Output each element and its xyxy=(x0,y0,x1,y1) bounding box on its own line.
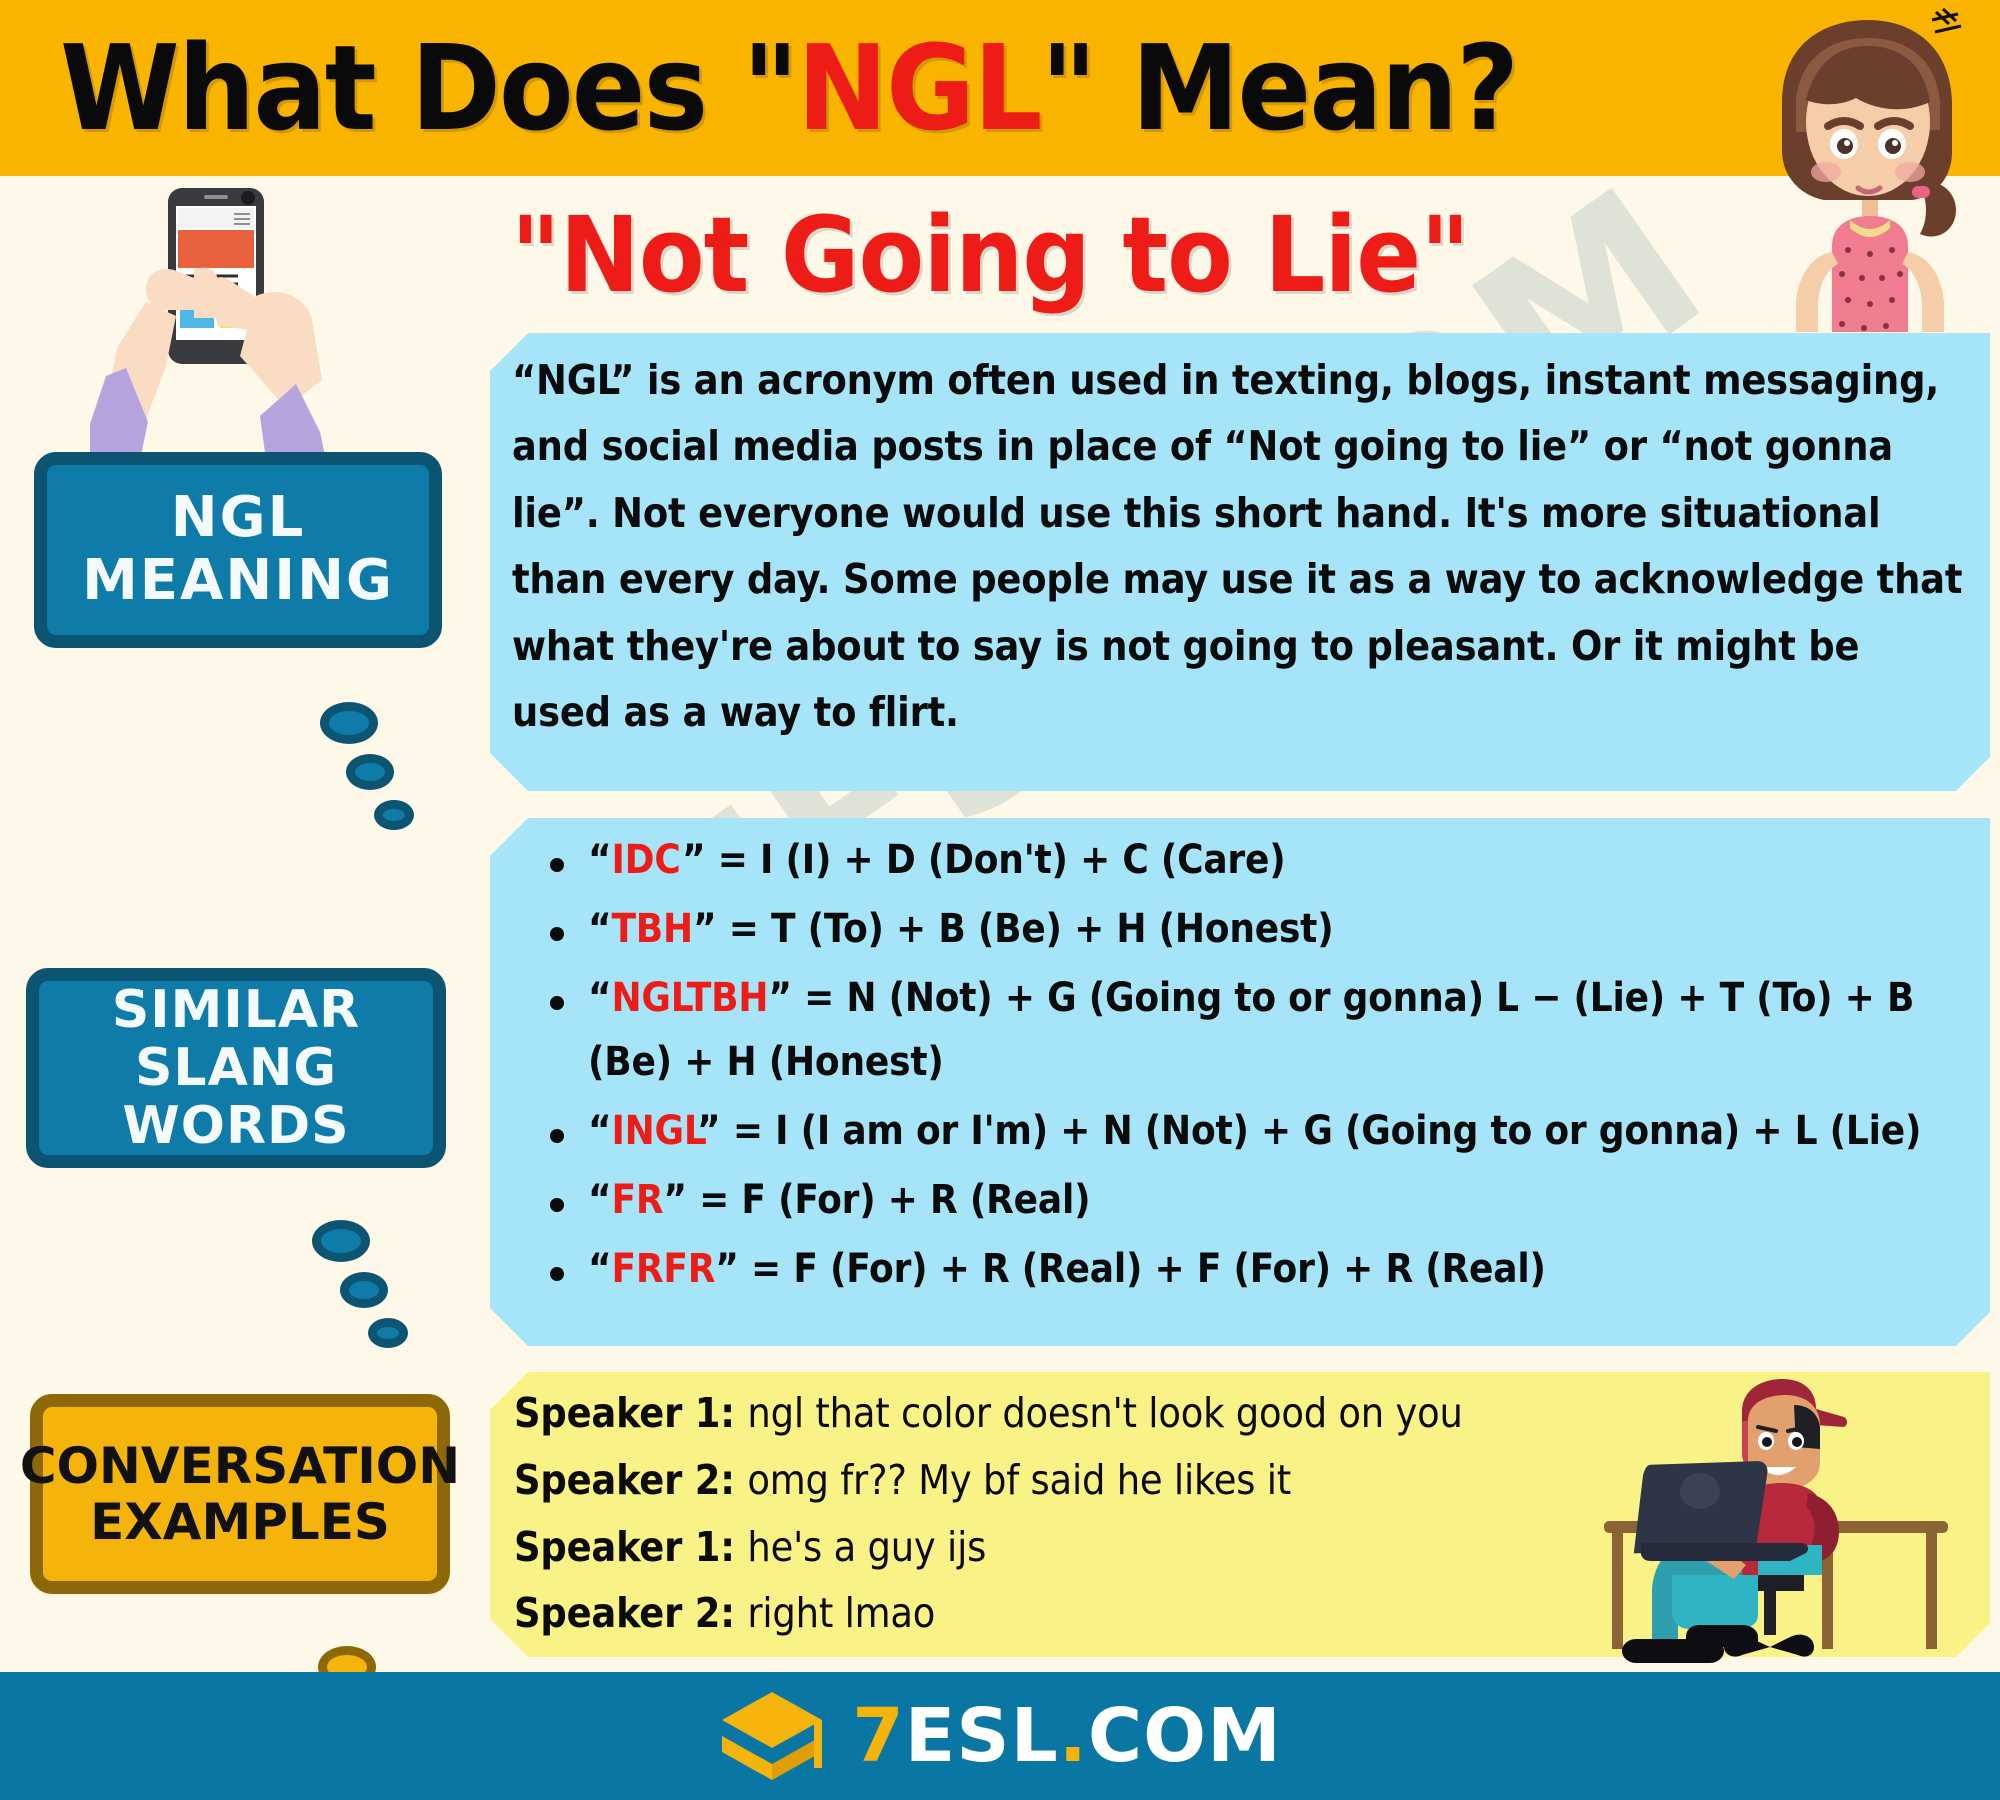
phone-in-hands-illustration xyxy=(90,170,360,460)
slang-code: NGLTBH xyxy=(611,975,768,1021)
slang-quote-close: ” xyxy=(693,906,729,952)
slang-quote-open: “ xyxy=(588,906,611,952)
slang-expansion: = T (To) + B (Be) + H (Honest) xyxy=(729,906,1334,952)
slang-list-item: “FRFR” = F (For) + R (Real) + F (For) + … xyxy=(588,1237,1970,1302)
slang-quote-open: “ xyxy=(588,1246,611,1292)
site-logo[interactable]: 7ESL.COM xyxy=(718,1688,1281,1784)
page-subtitle: "Not Going to Lie" xyxy=(429,190,1551,320)
ngl-meaning-paragraph: “NGL” is an acronym often used in textin… xyxy=(512,347,1966,745)
conversation-speaker: Speaker 2: xyxy=(514,1456,747,1504)
panel-similar-slang: “IDC” = I (I) + D (Don't) + C (Care)“TBH… xyxy=(490,818,1990,1346)
conversation-message: ngl that color doesn't look good on you xyxy=(747,1389,1462,1437)
conversation-speaker: Speaker 2: xyxy=(514,1589,747,1637)
sidebar-label-slang-line2: WORDS xyxy=(39,1097,433,1155)
panel-ngl-meaning: “NGL” is an acronym often used in textin… xyxy=(490,333,1990,791)
slang-expansion: = F (For) + R (Real) xyxy=(699,1177,1090,1223)
slang-quote-close: ” xyxy=(697,1108,733,1154)
thought-bubble-small-icon xyxy=(374,800,414,830)
sidebar-label-similar-slang[interactable]: SIMILAR SLANG WORDS xyxy=(26,968,446,1168)
slang-quote-open: “ xyxy=(588,1177,611,1223)
thought-bubble-medium-icon xyxy=(340,1272,388,1308)
slang-quote-open: “ xyxy=(588,975,611,1021)
page-title-suffix: " Mean? xyxy=(1041,19,1518,157)
slang-list-item: “IDC” = I (I) + D (Don't) + C (Care) xyxy=(588,828,1970,893)
slang-code: INGL xyxy=(611,1108,697,1154)
slang-list-item: “NGLTBH” = N (Not) + G (Going to or gonn… xyxy=(588,966,1970,1096)
sidebar-label-conv-line2: EXAMPLES xyxy=(20,1494,460,1550)
slang-list-item: “INGL” = I (I am or I'm) + N (Not) + G (… xyxy=(588,1099,1970,1164)
logo-dot: . xyxy=(1059,1693,1088,1779)
conversation-message: he's a guy ijs xyxy=(747,1523,986,1571)
slang-code: TBH xyxy=(611,906,693,952)
slang-expansion: = I (I am or I'm) + N (Not) + G (Going t… xyxy=(733,1108,1921,1154)
slang-list: “IDC” = I (I) + D (Don't) + C (Care)“TBH… xyxy=(522,828,1970,1306)
man-at-desk-illustration xyxy=(1590,1375,1990,1665)
conversation-message: right lmao xyxy=(747,1589,935,1637)
slang-code: FR xyxy=(611,1177,663,1223)
logo-text: 7ESL.COM xyxy=(852,1693,1281,1779)
slang-code: FRFR xyxy=(611,1246,715,1292)
logo-seven: 7 xyxy=(852,1693,905,1779)
page-title-prefix: What Does " xyxy=(60,19,797,157)
logo-esl: ESL xyxy=(905,1693,1059,1779)
slang-quote-close: ” xyxy=(663,1177,699,1223)
slang-quote-close: ” xyxy=(715,1246,751,1292)
slang-quote-close: ” xyxy=(768,975,804,1021)
thought-bubble-medium-icon xyxy=(346,754,394,790)
slang-quote-open: “ xyxy=(588,1108,611,1154)
thought-bubble-large-icon xyxy=(320,702,378,744)
girl-illustration xyxy=(1744,2,1994,332)
sidebar-label-conversation-examples[interactable]: CONVERSATION EXAMPLES xyxy=(30,1394,450,1594)
slang-expansion: = F (For) + R (Real) + F (For) + R (Real… xyxy=(751,1246,1546,1292)
thought-bubble-large-icon xyxy=(312,1220,370,1262)
footer-bar: 7ESL.COM xyxy=(0,1672,2000,1800)
page-title-acronym: NGL xyxy=(797,19,1041,157)
sidebar-label-slang-line1: SIMILAR SLANG xyxy=(39,981,433,1097)
thought-bubble-small-icon xyxy=(368,1318,408,1348)
conversation-message: omg fr?? My bf said he likes it xyxy=(747,1456,1291,1504)
logo-com: COM xyxy=(1088,1693,1282,1779)
slang-list-item: “FR” = F (For) + R (Real) xyxy=(588,1168,1970,1233)
sidebar-label-ngl-line1: NGL xyxy=(82,487,394,550)
conversation-speaker: Speaker 1: xyxy=(514,1389,747,1437)
sidebar-label-ngl-line2: MEANING xyxy=(82,550,394,613)
page-title: What Does "NGL" Mean? xyxy=(60,8,1698,168)
sidebar-label-conv-line1: CONVERSATION xyxy=(20,1438,460,1494)
slang-code: IDC xyxy=(611,837,682,883)
slang-expansion: = I (I) + D (Don't) + C (Care) xyxy=(718,837,1286,883)
slang-list-item: “TBH” = T (To) + B (Be) + H (Honest) xyxy=(588,897,1970,962)
sidebar-label-ngl-meaning[interactable]: NGL MEANING xyxy=(34,452,442,648)
graduation-cap-icon xyxy=(718,1688,826,1784)
slang-quote-close: ” xyxy=(682,837,718,883)
slang-quote-open: “ xyxy=(588,837,611,883)
conversation-speaker: Speaker 1: xyxy=(514,1523,747,1571)
